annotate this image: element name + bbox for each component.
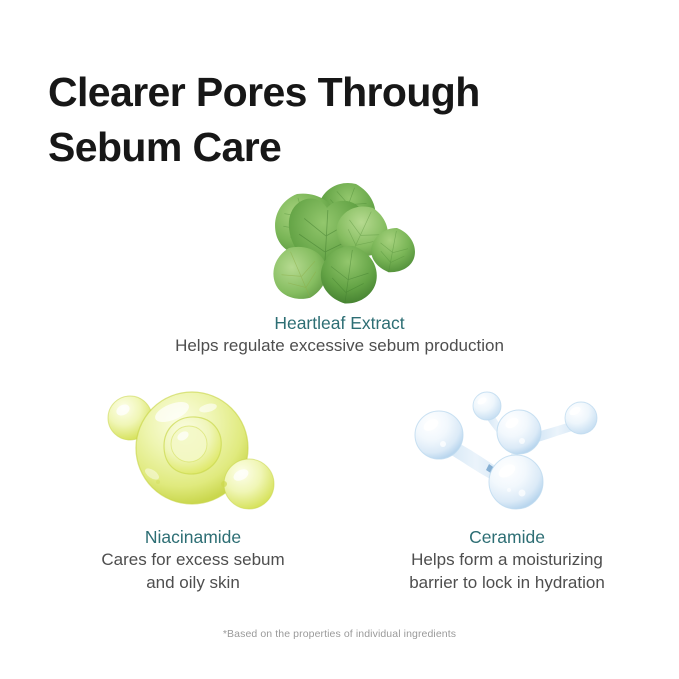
heartleaf-plant-illustration	[249, 172, 425, 306]
footnote-disclaimer: *Based on the properties of individual i…	[0, 628, 679, 640]
ingredient-description-ceramide: Helps form a moisturizing barrier to loc…	[362, 549, 652, 595]
description-line: barrier to lock in hydration	[362, 572, 652, 595]
product-benefit-infographic: Clearer Pores Through Sebum Care	[0, 0, 679, 679]
ingredient-name-niacinamide: Niacinamide	[48, 527, 338, 549]
description-line: Helps form a moisturizing	[362, 549, 652, 572]
ingredient-description-heartleaf: Helps regulate excessive sebum productio…	[0, 335, 679, 358]
ingredient-name-heartleaf: Heartleaf Extract	[0, 313, 679, 335]
description-line: Cares for excess sebum	[48, 549, 338, 572]
description-line: Helps regulate excessive sebum productio…	[0, 335, 679, 358]
oil-droplet-illustration	[96, 386, 292, 514]
ingredient-ceramide: Ceramide Helps form a moisturizing barri…	[362, 527, 652, 595]
ingredient-name-ceramide: Ceramide	[362, 527, 652, 549]
page-title: Clearer Pores Through Sebum Care	[48, 65, 618, 173]
description-line: and oily skin	[48, 572, 338, 595]
ingredient-description-niacinamide: Cares for excess sebum and oily skin	[48, 549, 338, 595]
ingredient-heartleaf: Heartleaf Extract Helps regulate excessi…	[0, 313, 679, 358]
ingredient-niacinamide: Niacinamide Cares for excess sebum and o…	[48, 527, 338, 595]
molecule-spheres-illustration	[414, 390, 600, 512]
